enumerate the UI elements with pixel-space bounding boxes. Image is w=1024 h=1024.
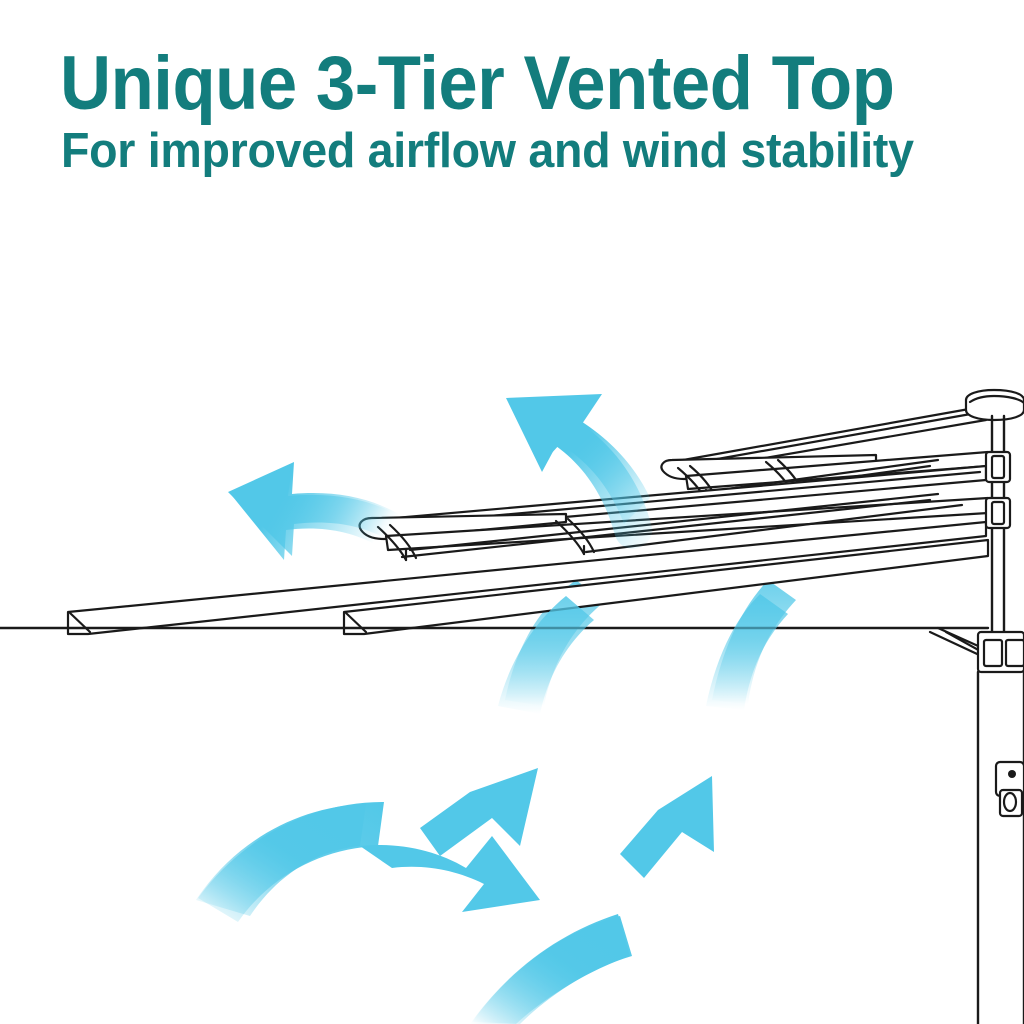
tier-1-hub-collar-inner [992, 456, 1004, 478]
crank-hardware-slot-hole [1004, 793, 1016, 811]
finial-cap [966, 390, 1024, 420]
arrow-right-updraft-shape [706, 594, 788, 710]
pole-and-finial [966, 390, 1024, 1024]
tier-2-hub-collar-inner [992, 502, 1004, 524]
umbrella-vent-illustration [0, 0, 1024, 1024]
arrow-lower-left-intake-shape [198, 802, 384, 922]
hub-assembly-inner-right [1006, 640, 1024, 666]
arrowhead-lower-right-solid [620, 776, 714, 878]
crank-hardware-pin [1008, 770, 1016, 778]
arrow-mid-left-outflow-shape [228, 462, 413, 556]
arrow-lower-right-intake-shape [470, 914, 630, 1024]
hub-assembly-inner-left [984, 640, 1002, 666]
product-feature-graphic: Unique 3-Tier Vented Top For improved ai… [0, 0, 1024, 1024]
